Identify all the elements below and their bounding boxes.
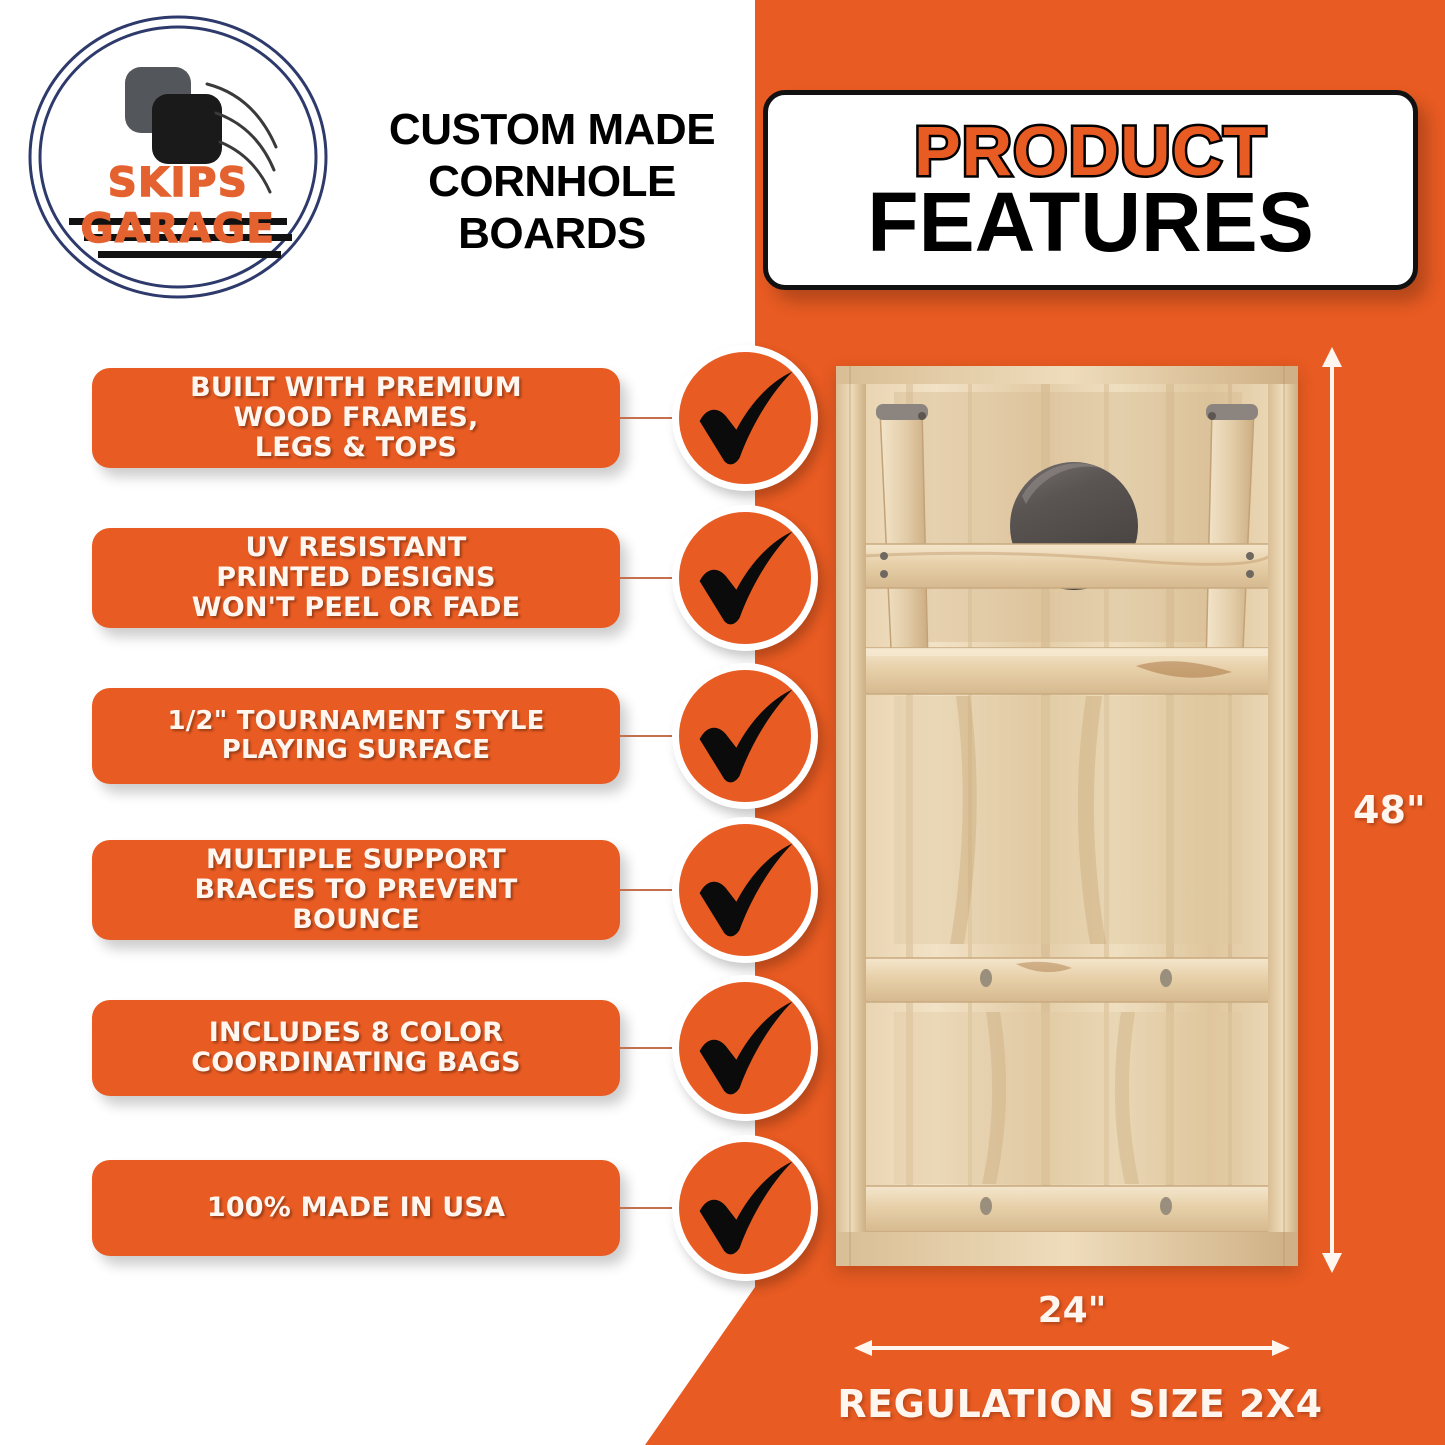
- feature-text: MULTIPLE SUPPORTBRACES TO PREVENTBOUNCE: [195, 845, 518, 934]
- feature-text: 1/2" TOURNAMENT STYLEPLAYING SURFACE: [167, 707, 544, 764]
- checkmark-icon: [672, 1135, 818, 1281]
- dimension-width: 24": [852, 1290, 1292, 1370]
- feature-pill[interactable]: UV RESISTANTPRINTED DESIGNSWON'T PEEL OR…: [92, 528, 620, 628]
- product-photo-cornhole-board: [836, 366, 1298, 1266]
- checkmark-icon: [672, 505, 818, 651]
- feature-text-line: BOUNCE: [195, 905, 518, 935]
- logo-wordmark: SKIPS GARAGE: [8, 160, 348, 252]
- feature-row: BUILT WITH PREMIUMWOOD FRAMES,LEGS & TOP…: [0, 368, 830, 468]
- feature-text-line: WOOD FRAMES,: [190, 403, 522, 433]
- height-label: 48": [1353, 788, 1426, 832]
- feature-pill[interactable]: 100% MADE IN USA: [92, 1160, 620, 1256]
- headline-line-3: BOARDS: [352, 208, 752, 260]
- feature-text: UV RESISTANTPRINTED DESIGNSWON'T PEEL OR…: [192, 533, 521, 622]
- headline-line-1: CUSTOM MADE: [352, 104, 752, 156]
- logo-graphic: [8, 12, 348, 302]
- feature-pill[interactable]: MULTIPLE SUPPORTBRACES TO PREVENTBOUNCE: [92, 840, 620, 940]
- feature-row: MULTIPLE SUPPORTBRACES TO PREVENTBOUNCE: [0, 840, 830, 940]
- brand-logo: SKIPS GARAGE: [8, 12, 348, 302]
- feature-text-line: UV RESISTANT: [192, 533, 521, 563]
- headline-line-2: CORNHOLE: [352, 156, 752, 208]
- regulation-size-caption: REGULATION SIZE 2X4: [760, 1382, 1400, 1426]
- feature-pill[interactable]: BUILT WITH PREMIUMWOOD FRAMES,LEGS & TOP…: [92, 368, 620, 468]
- product-features-badge: PRODUCT FEATURES: [763, 90, 1418, 290]
- page-title: CUSTOM MADE CORNHOLE BOARDS: [352, 104, 752, 260]
- support-brace-middle: [862, 648, 1272, 694]
- bottom-rail: [862, 1186, 1272, 1232]
- feature-text-line: PRINTED DESIGNS: [192, 563, 521, 593]
- feature-text-line: BUILT WITH PREMIUM: [190, 373, 522, 403]
- feature-text: INCLUDES 8 COLORCOORDINATING BAGS: [191, 1018, 520, 1077]
- checkmark-icon: [672, 817, 818, 963]
- feature-text-line: LEGS & TOPS: [190, 433, 522, 463]
- feature-text: BUILT WITH PREMIUMWOOD FRAMES,LEGS & TOP…: [190, 373, 522, 462]
- support-brace-upper: [862, 544, 1272, 588]
- feature-text: 100% MADE IN USA: [207, 1193, 505, 1223]
- feature-row: 1/2" TOURNAMENT STYLEPLAYING SURFACE: [0, 688, 830, 784]
- height-arrow-icon: [1315, 345, 1349, 1275]
- cornhole-board-illustration: [836, 366, 1298, 1266]
- feature-text-line: MULTIPLE SUPPORT: [195, 845, 518, 875]
- support-brace-lower: [862, 958, 1272, 1002]
- feature-text-line: BRACES TO PREVENT: [195, 875, 518, 905]
- badge-word-features: FEATURES: [867, 181, 1313, 263]
- checkmark-icon: [672, 345, 818, 491]
- feature-text-line: 1/2" TOURNAMENT STYLE: [167, 707, 544, 736]
- feature-pill[interactable]: INCLUDES 8 COLORCOORDINATING BAGS: [92, 1000, 620, 1096]
- checkmark-icon: [672, 663, 818, 809]
- feature-text-line: COORDINATING BAGS: [191, 1048, 520, 1078]
- feature-text-line: WON'T PEEL OR FADE: [192, 593, 521, 623]
- checkmark-icon: [672, 975, 818, 1121]
- width-label: 24": [852, 1290, 1292, 1331]
- dimension-height: 48": [1315, 345, 1435, 1275]
- feature-row: 100% MADE IN USA: [0, 1160, 830, 1256]
- feature-pill[interactable]: 1/2" TOURNAMENT STYLEPLAYING SURFACE: [92, 688, 620, 784]
- feature-text-line: 100% MADE IN USA: [207, 1193, 505, 1223]
- feature-text-line: INCLUDES 8 COLOR: [191, 1018, 520, 1048]
- feature-row: INCLUDES 8 COLORCOORDINATING BAGS: [0, 1000, 830, 1096]
- width-arrow-icon: [852, 1337, 1292, 1359]
- feature-row: UV RESISTANTPRINTED DESIGNSWON'T PEEL OR…: [0, 528, 830, 628]
- feature-text-line: PLAYING SURFACE: [167, 736, 544, 765]
